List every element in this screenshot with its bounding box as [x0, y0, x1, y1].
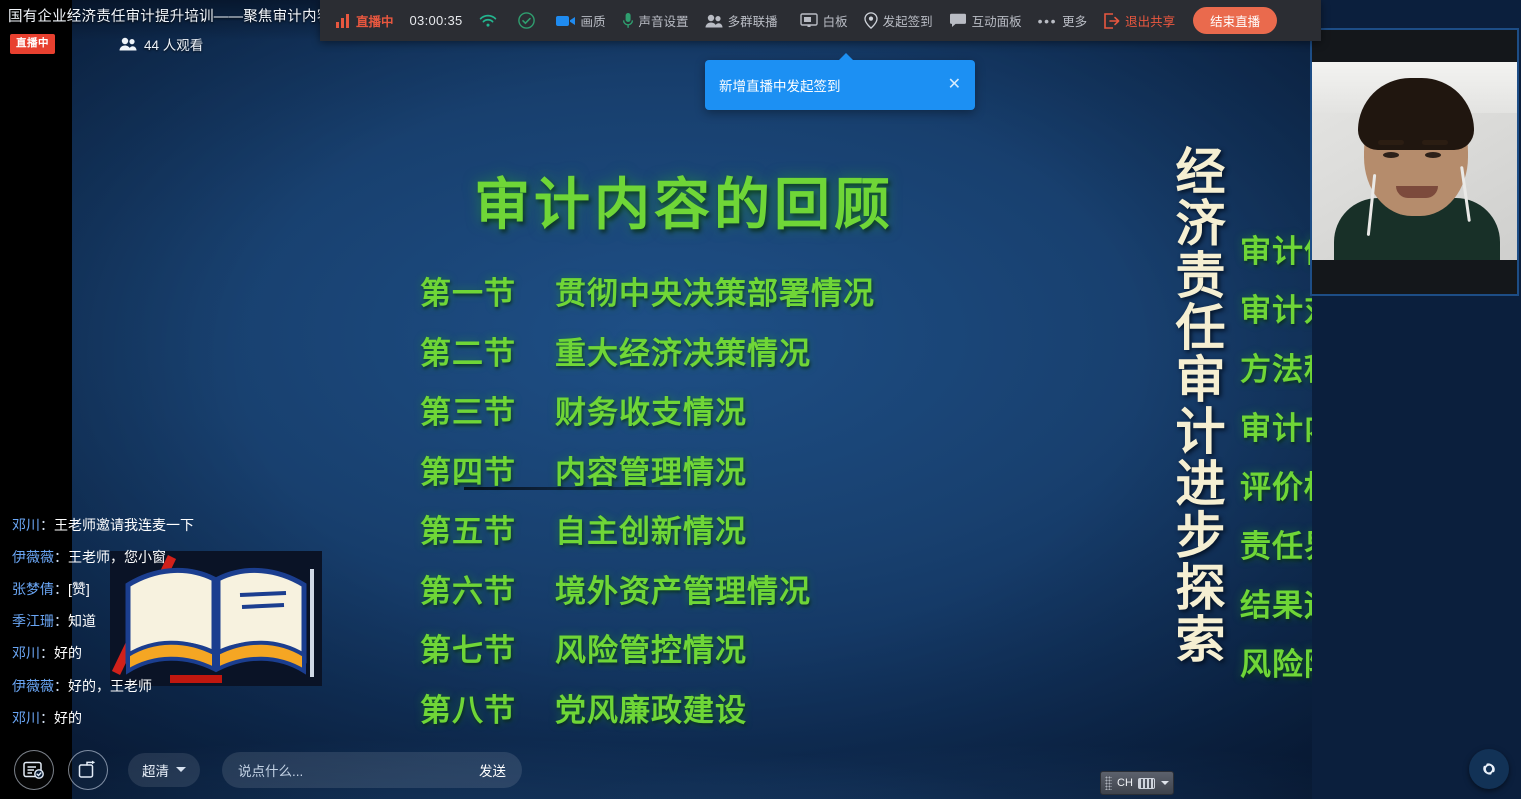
toc-row: 第二节 重大经济决策情况 [420, 328, 875, 388]
chat-text: 好的 [54, 645, 82, 661]
share-screen-icon [78, 760, 99, 779]
exit-icon [1103, 13, 1120, 29]
chat-author: 季江珊 [12, 613, 54, 629]
chat-message: 邓川：王老师邀请我连麦一下 [12, 514, 200, 537]
feature-callout[interactable]: 新增直播中发起签到 ✕ [705, 60, 975, 110]
topic-item: 责任界定 [1240, 521, 1312, 580]
chat-message: 邓川：好的 [12, 707, 88, 730]
notes-check-button[interactable] [14, 750, 54, 790]
cam-eye-left [1383, 152, 1399, 158]
presenter-webcam[interactable] [1310, 28, 1519, 296]
share-screen-button[interactable] [68, 750, 108, 790]
chat-input-container[interactable]: 说点什么... 发送 [222, 752, 522, 788]
toc-row: 第七节 风险管控情况 [420, 625, 875, 685]
chat-text: 王老师邀请我连麦一下 [54, 517, 194, 533]
slide-right-topic-list: 审计体制 审计对象 方法程序 审计内容 评价标准 责任界定 结果运用 风险防范 [1240, 226, 1312, 698]
slide-heading: 审计内容的回顾 [424, 160, 944, 241]
keyboard-icon[interactable] [1138, 778, 1155, 789]
toolbar-more[interactable]: ••• 更多 [1030, 0, 1096, 41]
callout-arrow [838, 53, 854, 61]
chat-separator: ： [54, 581, 68, 597]
cam-brow-right [1422, 140, 1448, 145]
host-control-toolbar[interactable]: 直播中 03:00:35 画质 [320, 0, 1321, 41]
chat-text: 好的 [54, 710, 82, 726]
close-icon[interactable]: ✕ [948, 77, 961, 93]
slide-vertical-title: 经济责任审计进步探索 [1168, 145, 1224, 665]
cam-video-frame [1312, 62, 1517, 260]
toc-section-number: 第七节 [420, 625, 555, 670]
toolbar-item-label: 发起签到 [883, 11, 933, 30]
chat-separator: ： [54, 613, 68, 629]
chat-message: 张梦倩：[赞] [12, 578, 96, 601]
toolbar-item-label: 白板 [823, 11, 848, 30]
chat-message: 邓川：好的 [12, 642, 88, 665]
elapsed-time: 03:00:35 [410, 13, 463, 28]
cam-eye-right [1425, 152, 1441, 158]
toc-section-title: 风险管控情况 [555, 625, 747, 670]
topic-item: 评价标准 [1240, 462, 1312, 521]
pointer-underline [464, 487, 679, 490]
exit-share-label: 退出共享 [1125, 11, 1175, 30]
toc-section-title: 重大经济决策情况 [555, 328, 811, 373]
toc-section-title: 贯彻中央决策部署情况 [555, 268, 875, 313]
toc-section-title: 境外资产管理情况 [555, 566, 811, 611]
toc-section-number: 第六节 [420, 566, 555, 611]
toolbar-interactive-panel[interactable]: 互动面板 [941, 0, 1030, 41]
toolbar-live-label: 直播中 [356, 11, 394, 30]
end-live-button[interactable]: 结束直播 [1193, 7, 1277, 34]
toolbar-timer: 03:00:35 [402, 0, 471, 41]
whiteboard-icon [800, 13, 818, 28]
callout-text: 新增直播中发起签到 [719, 75, 948, 95]
toolbar-item-label: 声音设置 [639, 11, 689, 30]
cam-letterbox-bottom [1312, 260, 1517, 294]
chat-message: 伊薇薇：王老师，您小窗 [12, 546, 172, 569]
chat-message: 伊薇薇：好的，王老师 [12, 675, 158, 698]
send-button[interactable]: 发送 [479, 760, 506, 780]
toolbar-live-status: 直播中 [328, 0, 402, 41]
chat-message: 季江珊：知道 [12, 610, 102, 633]
toc-section-number: 第二节 [420, 328, 555, 373]
toolbar-camera[interactable]: 画质 [548, 0, 614, 41]
topic-item: 审计内容 [1240, 403, 1312, 462]
toolbar-start-checkin[interactable]: 发起签到 [856, 0, 941, 41]
toc-row: 第四节 内容管理情况 [420, 447, 875, 507]
drag-handle-icon[interactable] [1105, 776, 1112, 790]
chat-text: 知道 [68, 613, 96, 629]
chat-author: 邓川 [12, 710, 40, 726]
toc-row: 第一节 贯彻中央决策部署情况 [420, 268, 875, 328]
toc-section-title: 内容管理情况 [555, 447, 747, 492]
chat-input-placeholder[interactable]: 说点什么... [238, 760, 479, 780]
live-streaming-window: 审计内容的回顾 第一节 贯彻中央决策部署情况 第二节 重大经济决策情况 第三节 … [0, 0, 1521, 799]
toolbar-item-label: 更多 [1062, 11, 1087, 30]
bottom-action-bar[interactable]: 超清 说点什么... 发送 [0, 740, 1521, 799]
toc-section-number: 第一节 [420, 268, 555, 313]
status-badge: 直播中 [10, 34, 55, 54]
cam-mouth [1396, 186, 1438, 198]
topic-item: 风险防范 [1240, 639, 1312, 698]
toc-section-number: 第三节 [420, 387, 555, 432]
window-titlebar: 国有企业经济责任审计提升培训——聚焦审计内容 [0, 0, 331, 30]
wifi-icon [479, 14, 497, 28]
chat-text: [赞] [68, 581, 90, 597]
toc-section-title: 党风廉政建设 [555, 685, 747, 730]
toolbar-whiteboard[interactable]: 白板 [792, 0, 856, 41]
viewer-count: 44 人观看 [119, 34, 203, 54]
quality-label: 超清 [142, 760, 169, 780]
toolbar-network-status[interactable] [471, 0, 510, 41]
topic-item: 审计体制 [1240, 226, 1312, 285]
ime-language-label[interactable]: CH [1117, 777, 1133, 789]
topic-item: 审计对象 [1240, 285, 1312, 344]
people-icon [119, 37, 137, 51]
chat-author: 伊薇薇 [12, 678, 54, 694]
chevron-down-icon [176, 767, 186, 772]
page-title: 国有企业经济责任审计提升培训——聚焦审计内容 [8, 5, 331, 26]
toc-row: 第五节 自主创新情况 [420, 506, 875, 566]
toolbar-audio-settings[interactable]: 声音设置 [614, 0, 697, 41]
chat-text: 王老师，您小窗 [68, 549, 166, 565]
exit-share-button[interactable]: 退出共享 [1095, 0, 1183, 41]
more-dots-icon: ••• [1038, 13, 1058, 29]
chat-author: 邓川 [12, 517, 40, 533]
toc-section-number: 第五节 [420, 506, 555, 551]
toolbar-item-label: 互动面板 [972, 11, 1022, 30]
linked-rings-icon [1478, 758, 1500, 780]
cam-letterbox-top [1312, 30, 1517, 62]
chat-separator: ： [40, 517, 54, 533]
chat-author: 张梦倩 [12, 581, 54, 597]
quality-selector[interactable]: 超清 [128, 753, 200, 787]
topic-item: 方法程序 [1240, 344, 1312, 403]
cam-brow-left [1378, 140, 1404, 145]
location-pin-icon [864, 12, 878, 29]
toolbar-security-status[interactable] [510, 0, 548, 41]
toc-row: 第八节 党风廉政建设 [420, 685, 875, 745]
toc-section-number: 第八节 [420, 685, 555, 730]
slide-table-of-contents: 第一节 贯彻中央决策部署情况 第二节 重大经济决策情况 第三节 财务收支情况 第… [420, 268, 875, 744]
floating-assistant-button[interactable] [1469, 749, 1509, 789]
signal-bars-icon [336, 14, 351, 28]
toc-row: 第六节 境外资产管理情况 [420, 566, 875, 626]
camera-icon [556, 14, 576, 28]
toc-section-title: 自主创新情况 [555, 506, 747, 551]
chat-text: 好的，王老师 [68, 678, 152, 694]
ime-language-bar[interactable]: CH [1100, 771, 1174, 795]
microphone-icon [622, 12, 634, 29]
chat-separator: ： [40, 645, 54, 661]
shield-check-icon [518, 12, 535, 29]
chat-overlay[interactable]: 邓川：王老师邀请我连麦一下 伊薇薇：王老师，您小窗 张梦倩：[赞] 季江珊：知道… [12, 514, 342, 739]
toolbar-multi-group-broadcast[interactable]: 多群联播 [697, 0, 786, 41]
chat-separator: ： [54, 678, 68, 694]
chevron-down-icon[interactable] [1161, 781, 1169, 785]
live-status-bar: 直播中 44 人观看 [0, 30, 203, 58]
toolbar-item-label: 多群联播 [728, 11, 778, 30]
toc-section-number: 第四节 [420, 447, 555, 492]
notes-check-icon [23, 761, 45, 779]
chat-separator: ： [54, 549, 68, 565]
topic-item: 结果运用 [1240, 580, 1312, 639]
toolbar-item-label: 画质 [581, 11, 606, 30]
toc-section-title: 财务收支情况 [555, 387, 747, 432]
people-icon [705, 14, 723, 28]
toc-row: 第三节 财务收支情况 [420, 387, 875, 447]
chat-author: 邓川 [12, 645, 40, 661]
comment-icon [949, 13, 967, 28]
viewer-count-label: 44 人观看 [144, 34, 203, 54]
chat-author: 伊薇薇 [12, 549, 54, 565]
chat-separator: ： [40, 710, 54, 726]
